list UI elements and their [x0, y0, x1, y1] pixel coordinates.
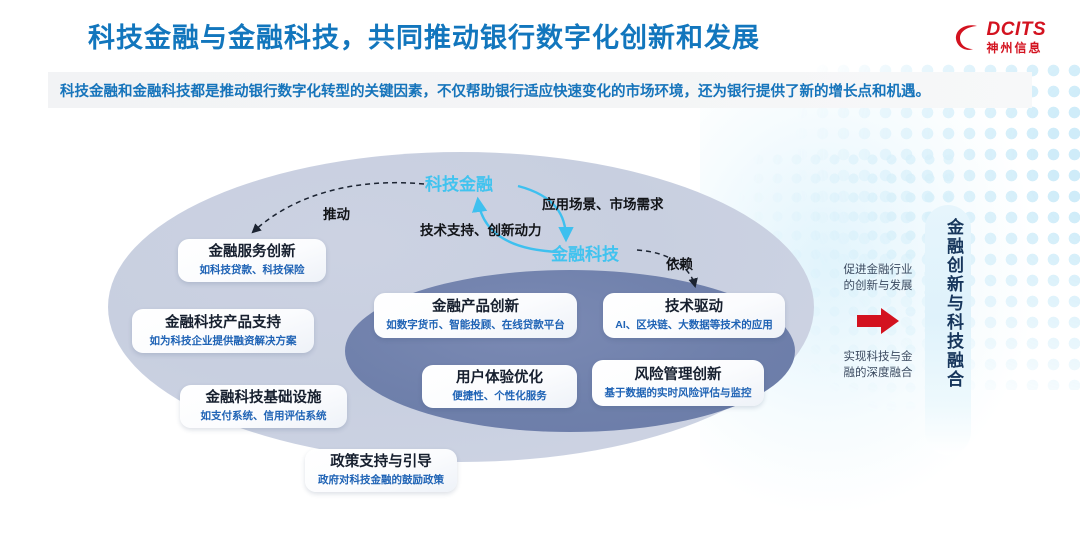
label-scenario-demand: 应用场景、市场需求 — [542, 193, 664, 213]
card-title: 金融服务创新 — [209, 244, 296, 261]
vertical-label-fusion: 金融创新与科技融合 — [933, 218, 963, 389]
card-inner-0[interactable]: 金融产品创新 如数字货币、智能投顾、在线贷款平台 — [374, 293, 577, 338]
label-depend: 依赖 — [666, 253, 693, 273]
slide-root: 科技金融与金融科技，共同推动银行数字化创新和发展 DCITS 神州信息 科技金融… — [0, 0, 1080, 540]
card-title: 金融产品创新 — [432, 299, 519, 316]
card-title: 用户体验优化 — [456, 370, 543, 387]
logo-text-en: DCITS — [987, 20, 1047, 39]
subtitle-text: 科技金融和金融科技都是推动银行数字化转型的关键因素，不仅帮助银行适应快速变化的市… — [48, 80, 930, 101]
logo-wordmark: DCITS 神州信息 — [987, 20, 1047, 54]
card-outer-0[interactable]: 金融服务创新 如科技贷款、科技保险 — [178, 239, 326, 282]
label-push: 推动 — [323, 203, 350, 223]
card-outer-1[interactable]: 金融科技产品支持 如为科技企业提供融资解决方案 — [132, 309, 314, 353]
card-subtitle: 如科技贷款、科技保险 — [200, 264, 305, 277]
card-subtitle: 如数字货币、智能投顾、在线贷款平台 — [386, 319, 565, 332]
card-inner-2[interactable]: 用户体验优化 便捷性、个性化服务 — [422, 365, 577, 408]
card-subtitle: 如支付系统、信用评估系统 — [201, 410, 327, 423]
card-subtitle: 便捷性、个性化服务 — [452, 390, 547, 403]
subtitle-bar: 科技金融和金融科技都是推动银行数字化转型的关键因素，不仅帮助银行适应快速变化的市… — [48, 72, 1032, 108]
card-subtitle: 政府对科技金融的鼓励政策 — [318, 474, 444, 487]
card-title: 风险管理创新 — [635, 367, 722, 384]
card-inner-1[interactable]: 技术驱动 AI、区块链、大数据等技术的应用 — [603, 293, 785, 338]
card-title: 金融科技基础设施 — [206, 390, 322, 407]
dcits-swirl-icon — [953, 22, 981, 52]
logo-text-cn: 神州信息 — [987, 42, 1047, 54]
card-outer-3[interactable]: 政策支持与引导 政府对科技金融的鼓励政策 — [305, 449, 457, 492]
side-note-bottom: 实现科技与金融的深度融合 — [839, 350, 917, 381]
card-outer-2[interactable]: 金融科技基础设施 如支付系统、信用评估系统 — [180, 385, 347, 428]
card-inner-3[interactable]: 风险管理创新 基于数据的实时风险评估与监控 — [592, 360, 764, 406]
brand-logo: DCITS 神州信息 — [953, 16, 1047, 58]
card-subtitle: 基于数据的实时风险评估与监控 — [605, 387, 752, 400]
page-title: 科技金融与金融科技，共同推动银行数字化创新和发展 — [88, 16, 760, 55]
card-subtitle: AI、区块链、大数据等技术的应用 — [615, 319, 773, 332]
side-note-top: 促进金融行业的创新与发展 — [839, 263, 917, 294]
card-title: 技术驱动 — [665, 299, 723, 316]
card-title: 政策支持与引导 — [330, 454, 432, 471]
label-keji-jinrong: 科技金融 — [425, 170, 493, 195]
label-tech-support: 技术支持、创新动力 — [420, 219, 542, 239]
card-title: 金融科技产品支持 — [165, 315, 281, 332]
label-jinrong-keji: 金融科技 — [551, 240, 619, 265]
red-arrow-icon — [855, 306, 901, 336]
card-subtitle: 如为科技企业提供融资解决方案 — [150, 335, 297, 348]
